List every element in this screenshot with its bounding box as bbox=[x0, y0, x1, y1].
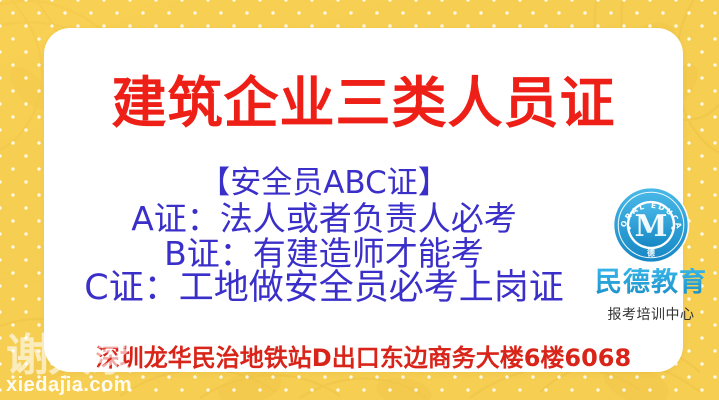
page-title: 建筑企业三类人员证 bbox=[44, 74, 683, 132]
description-line-3: B证：有建造师才能考 bbox=[58, 236, 590, 271]
svg-text:德: 德 bbox=[646, 247, 655, 257]
description-line-1: 【安全员ABC证】 bbox=[58, 166, 590, 201]
address-text: 深圳龙华民治地铁站D出口东边商务大楼6楼6068 bbox=[44, 344, 683, 372]
poster-root: 建筑企业三类人员证 【安全员ABC证】 A证：法人或者负责人必考 B证：有建造师… bbox=[0, 0, 719, 400]
description-line-4: C证：工地做安全员必考上岗证 bbox=[58, 271, 590, 306]
brand-name: 民德教育 bbox=[585, 268, 717, 298]
description-line-2: A证：法人或者负责人必考 bbox=[58, 201, 590, 236]
svg-text:M: M bbox=[635, 208, 668, 243]
content-card: 建筑企业三类人员证 【安全员ABC证】 A证：法人或者负责人必考 B证：有建造师… bbox=[44, 28, 683, 372]
certificate-description-block: 【安全员ABC证】 A证：法人或者负责人必考 B证：有建造师才能考 C证：工地做… bbox=[58, 166, 590, 306]
moral-education-emblem-icon: MORAL EDUCAT M 德 bbox=[612, 186, 690, 264]
brand-logo-block: MORAL EDUCAT M 德 民德教育 报考培训中心 bbox=[585, 186, 717, 323]
watermark-url-text: xiedajia.com bbox=[6, 374, 132, 396]
brand-subtitle: 报考培训中心 bbox=[585, 307, 717, 323]
